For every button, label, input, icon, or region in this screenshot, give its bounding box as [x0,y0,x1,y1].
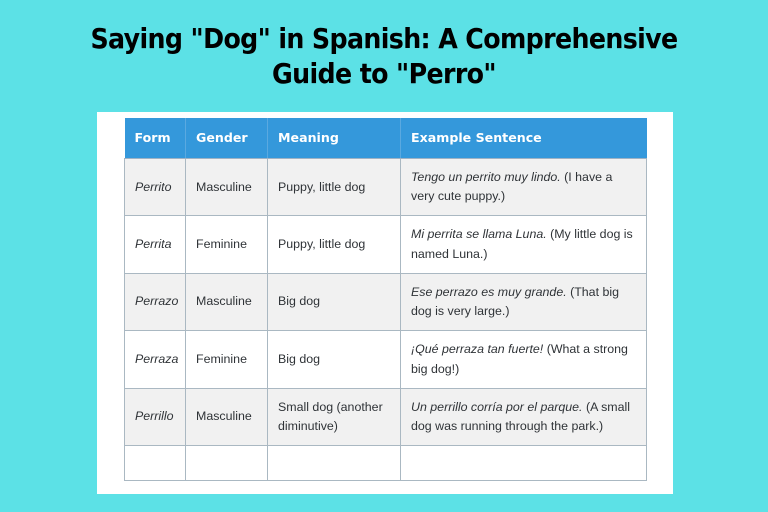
table-body: Perrito Masculine Puppy, little dog Teng… [125,159,647,481]
cell-meaning: Small dog (another diminutive) [268,388,401,445]
example-spanish: Un perrillo corría por el parque. [411,400,583,414]
page-title: Saying "Dog" in Spanish: A Comprehensive… [62,22,706,91]
dog-forms-table: Form Gender Meaning Example Sentence Per… [124,118,647,481]
column-header-form[interactable]: Form [125,118,186,159]
cell-meaning: Puppy, little dog [268,216,401,273]
cell-meaning: Big dog [268,273,401,330]
table-row: Perrita Feminine Puppy, little dog Mi pe… [125,216,647,273]
table-header: Form Gender Meaning Example Sentence [125,118,647,159]
cell-gender: Masculine [186,273,268,330]
cell-gender: Masculine [186,388,268,445]
cell-example: Un perrillo corría por el parque. (A sma… [401,388,647,445]
cell-form: Perrito [125,159,186,216]
table-row: Perraza Feminine Big dog ¡Qué perraza ta… [125,331,647,388]
cell-example: Tengo un perrito muy lindo. (I have a ve… [401,159,647,216]
cell-form: Perraza [125,331,186,388]
cell-example: ¡Qué perraza tan fuerte! (What a strong … [401,331,647,388]
cell-form [125,446,186,481]
example-spanish: Tengo un perrito muy lindo. [411,170,561,184]
cell-gender: Feminine [186,216,268,273]
cell-form: Perrita [125,216,186,273]
cell-gender: Feminine [186,331,268,388]
cell-meaning [268,446,401,481]
cell-example: Mi perrita se llama Luna. (My little dog… [401,216,647,273]
column-header-example[interactable]: Example Sentence [401,118,647,159]
title-block: Saying "Dog" in Spanish: A Comprehensive… [0,22,768,91]
example-spanish: ¡Qué perraza tan fuerte! [411,342,543,356]
table-row: Perrazo Masculine Big dog Ese perrazo es… [125,273,647,330]
cell-meaning: Puppy, little dog [268,159,401,216]
column-header-gender[interactable]: Gender [186,118,268,159]
cell-form: Perrillo [125,388,186,445]
page-root: Saying "Dog" in Spanish: A Comprehensive… [0,0,768,512]
cell-meaning: Big dog [268,331,401,388]
example-spanish: Ese perrazo es muy grande. [411,285,567,299]
column-header-meaning[interactable]: Meaning [268,118,401,159]
table-header-row: Form Gender Meaning Example Sentence [125,118,647,159]
table-row-partial [125,446,647,481]
table-card: Form Gender Meaning Example Sentence Per… [97,112,673,494]
cell-gender: Masculine [186,159,268,216]
cell-gender [186,446,268,481]
cell-example: Ese perrazo es muy grande. (That big dog… [401,273,647,330]
cell-example [401,446,647,481]
cell-form: Perrazo [125,273,186,330]
table-row: Perrito Masculine Puppy, little dog Teng… [125,159,647,216]
example-spanish: Mi perrita se llama Luna. [411,227,547,241]
table-row: Perrillo Masculine Small dog (another di… [125,388,647,445]
